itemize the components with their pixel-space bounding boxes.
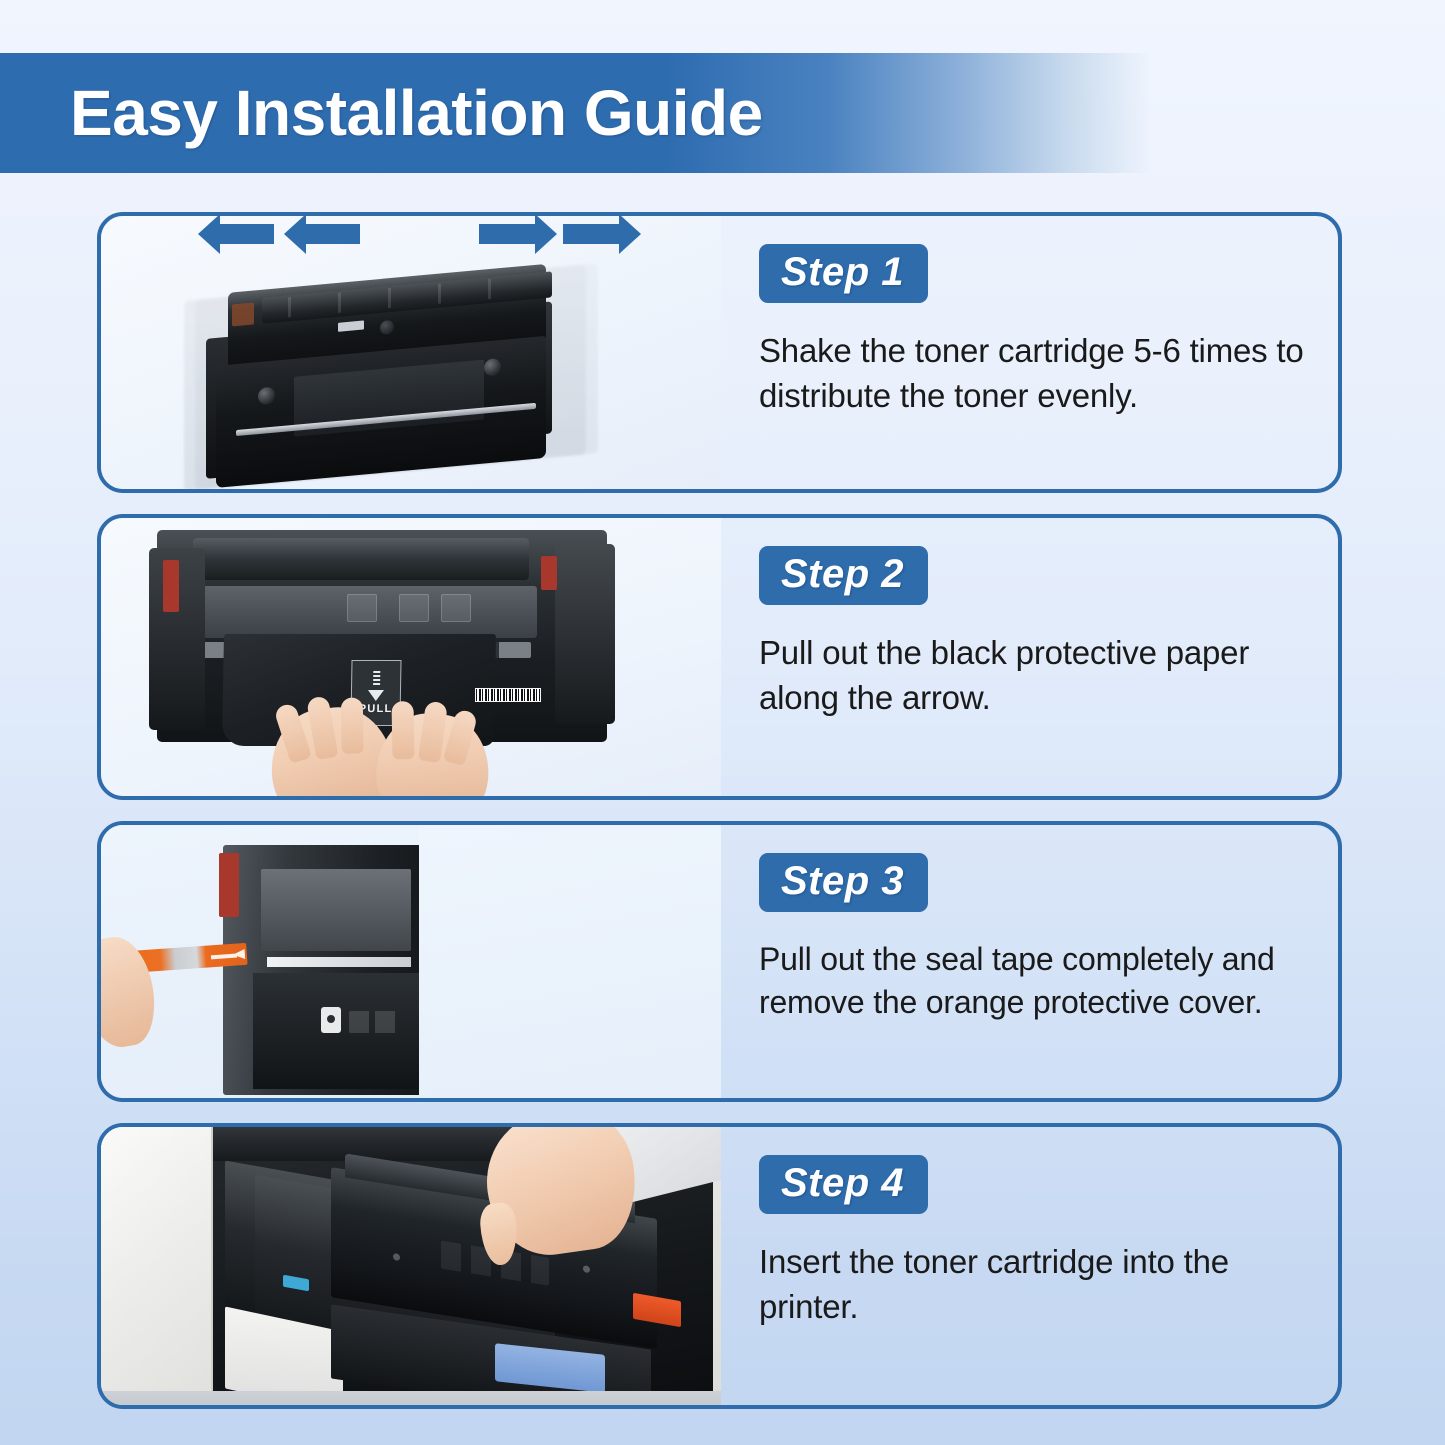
toner-cartridge-shaking-photo (101, 216, 721, 489)
step-3-figure (101, 825, 721, 1098)
step-description-3: Pull out the seal tape completely and re… (759, 938, 1308, 1024)
steps-list: Step 1 Shake the toner cartridge 5-6 tim… (97, 212, 1342, 1430)
toner-cartridge-illustration (223, 845, 423, 1095)
step-1-text: Step 1 Shake the toner cartridge 5-6 tim… (721, 216, 1338, 489)
printer-illustration (101, 1127, 721, 1405)
step-description-1: Shake the toner cartridge 5-6 times to d… (759, 329, 1308, 418)
down-arrow-icon (368, 690, 384, 701)
step-badge-3: Step 3 (759, 853, 928, 912)
page-title: Easy Installation Guide (0, 81, 763, 145)
step-3-text: Step 3 Pull out the seal tape completely… (721, 825, 1338, 1098)
left-arrow-icon (211, 954, 237, 960)
step-2-figure: PULL (101, 518, 721, 796)
step-card-4: Step 4 Insert the toner cartridge into t… (97, 1123, 1342, 1409)
insert-cartridge-into-printer-photo (101, 1127, 721, 1405)
step-1-figure (101, 216, 721, 489)
step-badge-4: Step 4 (759, 1155, 928, 1214)
step-4-text: Step 4 Insert the toner cartridge into t… (721, 1127, 1338, 1405)
header-banner: Easy Installation Guide (0, 53, 1150, 173)
step-4-figure (101, 1127, 721, 1405)
step-2-text: Step 2 Pull out the black protective pap… (721, 518, 1338, 796)
seal-tape-and-orange-cover-photo (101, 825, 721, 1098)
orange-cover-sub-photo (419, 825, 721, 1098)
barcode-label (475, 688, 541, 702)
toner-cartridge-illustration (206, 261, 576, 489)
dashed-line-icon (373, 671, 380, 685)
step-badge-1: Step 1 (759, 244, 928, 303)
pull-protective-paper-photo: PULL (101, 518, 721, 796)
step-description-2: Pull out the black protective paper alon… (759, 631, 1308, 720)
step-card-2: PULL Step 2 Pull out t (97, 514, 1342, 800)
step-description-4: Insert the toner cartridge into the prin… (759, 1240, 1308, 1329)
step-badge-2: Step 2 (759, 546, 928, 605)
step-card-3: Step 3 Pull out the seal tape completely… (97, 821, 1342, 1102)
step-card-1: Step 1 Shake the toner cartridge 5-6 tim… (97, 212, 1342, 493)
pull-label-text: PULL (359, 704, 393, 715)
seal-tape-sub-photo (101, 825, 419, 1098)
